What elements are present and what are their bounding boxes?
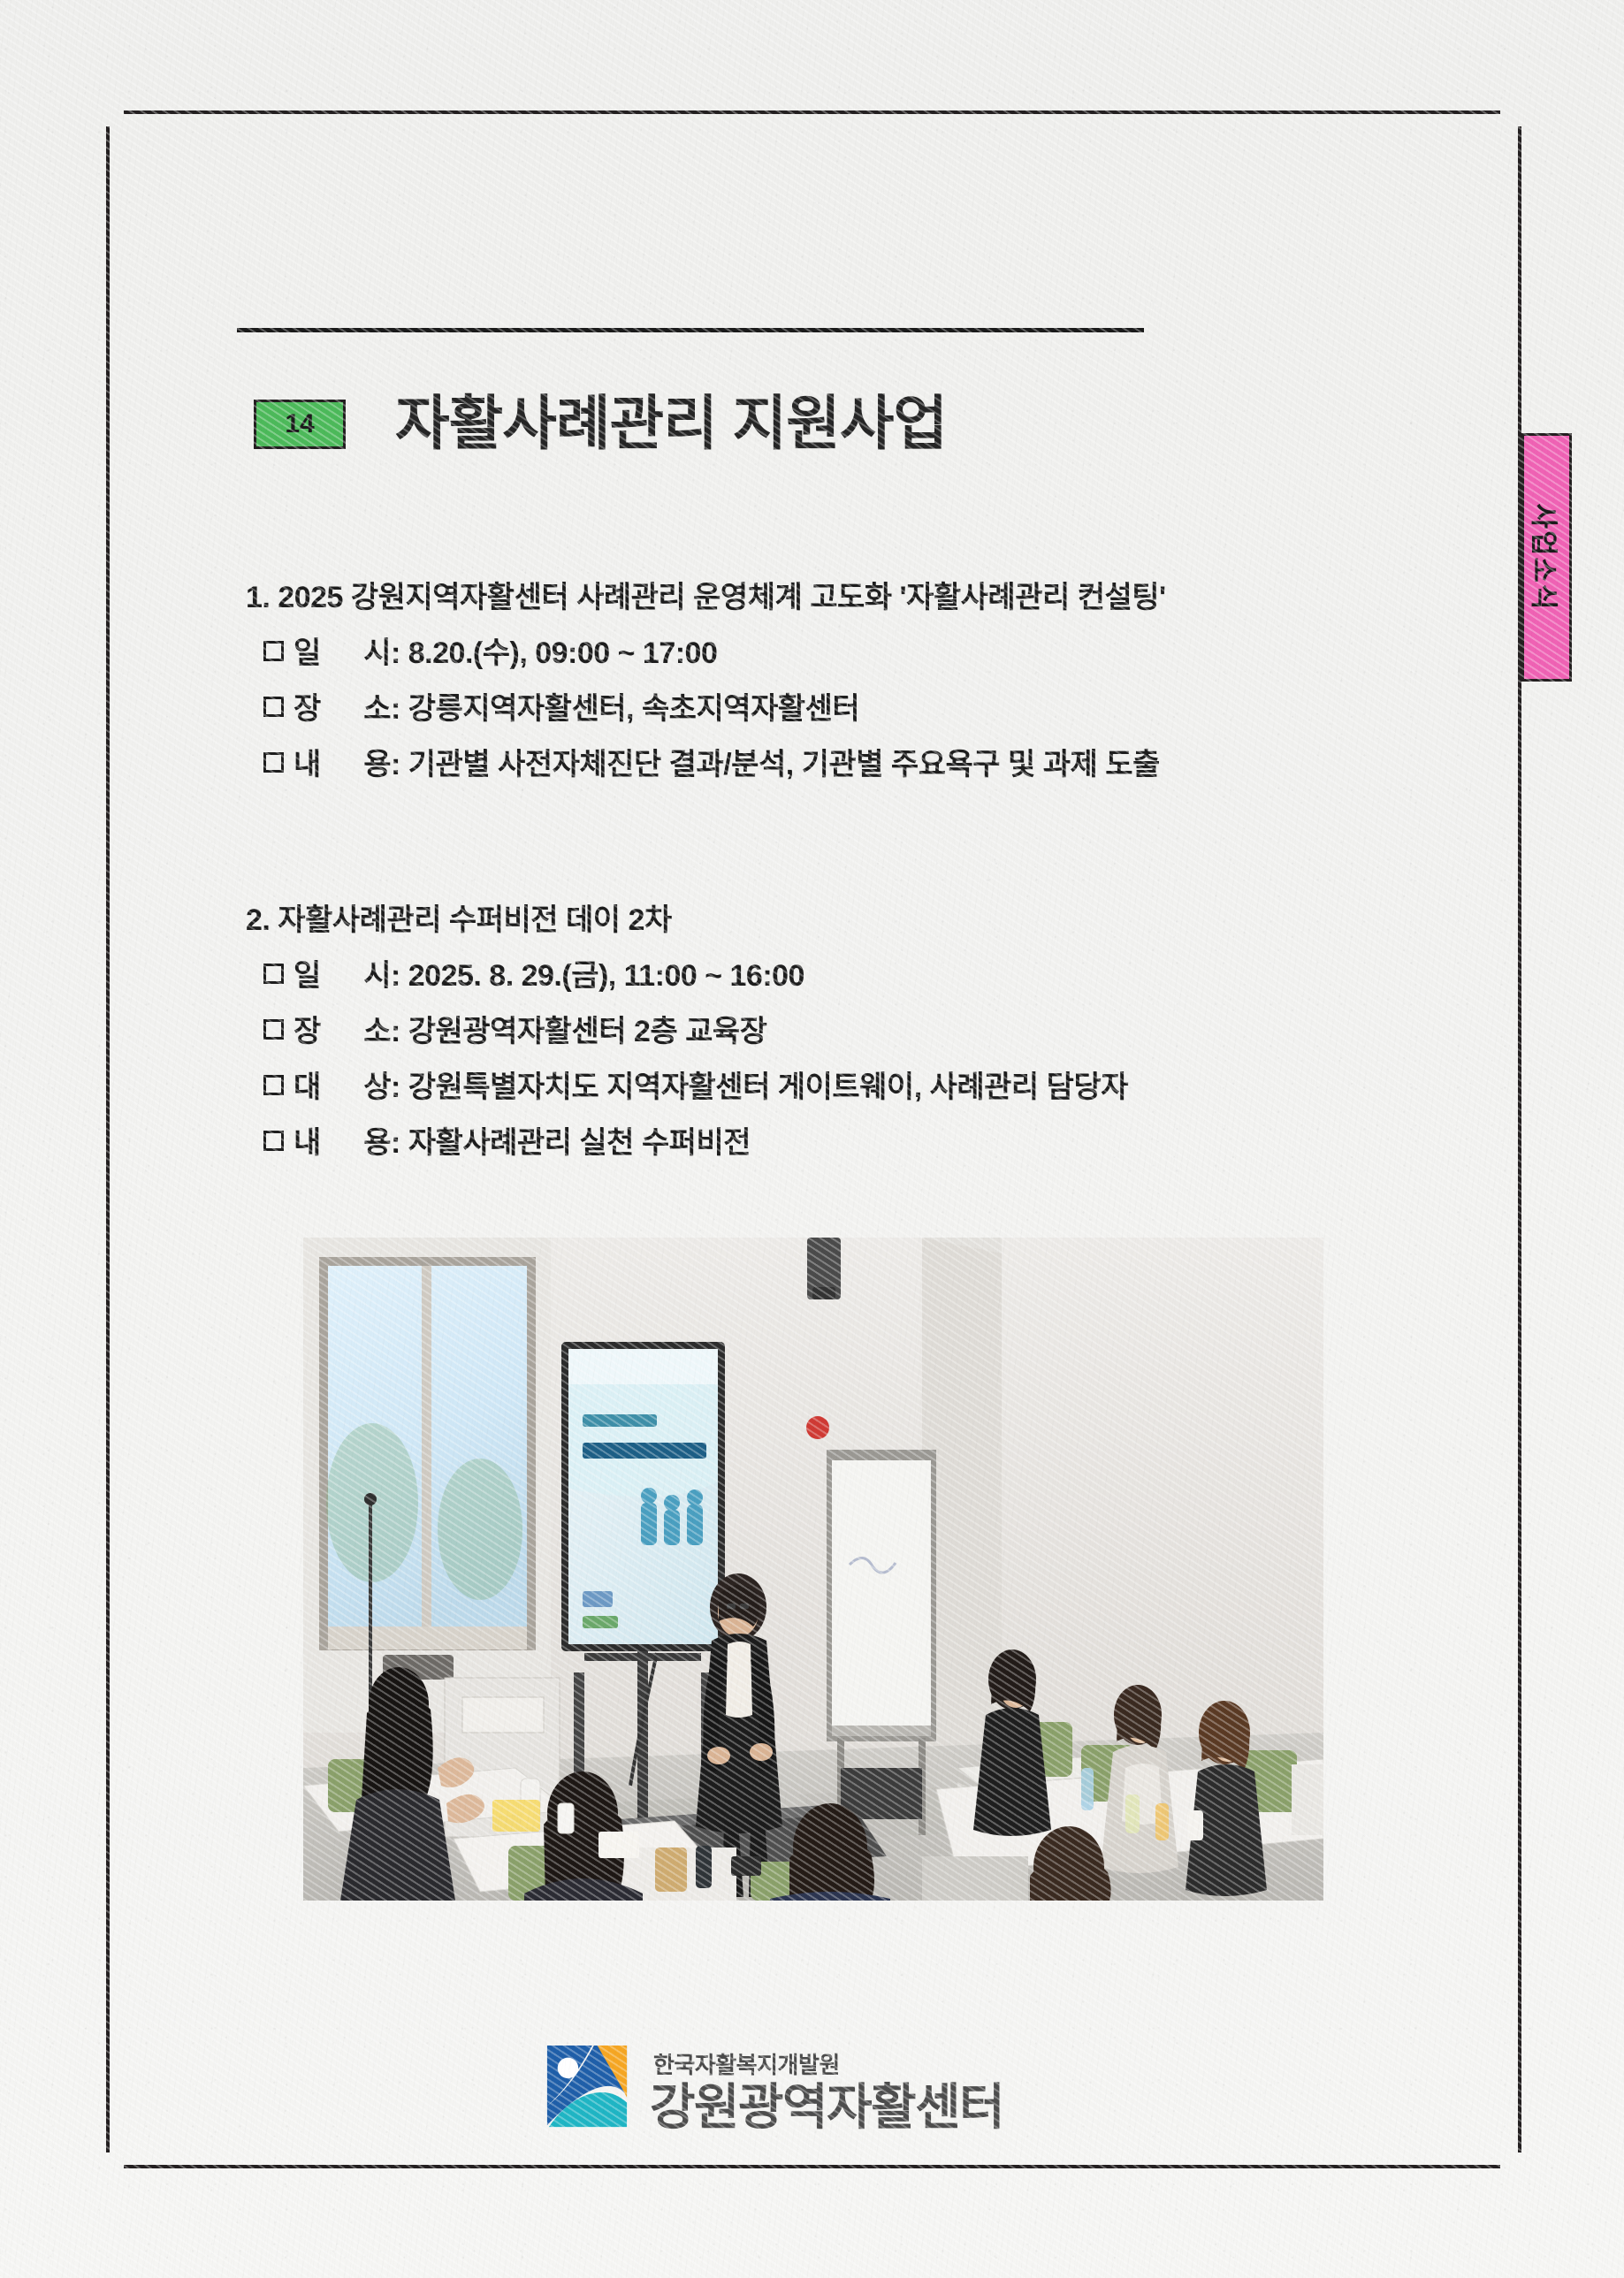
section-2-heading: 2. 자활사례관리 수퍼비전 데이 2차: [246, 895, 1128, 939]
detail-key2: 용: [327, 1118, 391, 1162]
detail-key: 내: [294, 740, 327, 783]
detail-key2: 소: [327, 684, 391, 728]
detail-row: 대 상 : 강원특별자치도 지역자활센터 게이트웨이, 사례관리 담당자: [263, 1063, 1128, 1106]
section-1: 1. 2025 강원지역자활센터 사례관리 운영체계 고도화 '자활사례관리 컨…: [246, 573, 1166, 796]
section-1-heading: 1. 2025 강원지역자활센터 사례관리 운영체계 고도화 '자활사례관리 컨…: [246, 573, 1166, 616]
frame-rule-top: [124, 110, 1500, 114]
section-2: 2. 자활사례관리 수퍼비전 데이 2차 일 시 : 2025. 8. 29.(…: [246, 895, 1128, 1174]
checkbox-icon: [263, 641, 284, 661]
detail-key: 일: [294, 629, 327, 672]
logo-text-block: 한국자활복지개발원 강원광역자활센터: [650, 2053, 1003, 2132]
checkbox-icon: [263, 1019, 284, 1040]
detail-value: : 기관별 사전자체진단 결과/분석, 기관별 주요욕구 및 과제 도출: [391, 740, 1160, 783]
detail-value: : 자활사례관리 실천 수퍼비전: [391, 1118, 751, 1162]
logo-subtitle: 한국자활복지개발원: [653, 2053, 1003, 2076]
logo-title: 강원광역자활센터: [650, 2083, 1003, 2132]
section-2-rows: 일 시 : 2025. 8. 29.(금), 11:00 ~ 16:00 장 소…: [263, 951, 1128, 1162]
detail-value: : 강원특별자치도 지역자활센터 게이트웨이, 사례관리 담당자: [391, 1063, 1128, 1106]
frame-rule-left: [106, 126, 110, 2152]
checkbox-icon: [263, 964, 284, 984]
detail-row: 장 소 : 강원광역자활센터 2층 교육장: [263, 1007, 1128, 1050]
detail-value: : 강릉지역자활센터, 속초지역자활센터: [391, 684, 859, 728]
checkbox-icon: [263, 1075, 284, 1095]
detail-value: : 강원광역자활센터 2층 교육장: [391, 1007, 766, 1050]
detail-key: 장: [294, 1007, 327, 1050]
checkbox-icon: [263, 697, 284, 717]
poster-page: 사업소식 14 자활사례관리 지원사업 1. 2025 강원지역자활센터 사례관…: [0, 0, 1624, 2278]
event-photo: [303, 1238, 1323, 1901]
checkbox-icon: [263, 752, 284, 773]
detail-row: 장 소 : 강릉지역자활센터, 속초지역자활센터: [263, 684, 1166, 728]
detail-row: 일 시 : 2025. 8. 29.(금), 11:00 ~ 16:00: [263, 951, 1128, 994]
detail-row: 내 용 : 기관별 사전자체진단 결과/분석, 기관별 주요욕구 및 과제 도출: [263, 740, 1166, 783]
detail-row: 일 시 : 8.20.(수), 09:00 ~ 17:00: [263, 629, 1166, 672]
detail-key2: 시: [327, 951, 391, 994]
detail-key2: 소: [327, 1007, 391, 1050]
section-number-badge: 14: [254, 400, 346, 449]
frame-rule-right: [1518, 126, 1521, 2152]
detail-key: 장: [294, 684, 327, 728]
detail-value: : 2025. 8. 29.(금), 11:00 ~ 16:00: [391, 951, 804, 994]
checkbox-icon: [263, 1131, 284, 1151]
side-tab-label: 사업소식: [1527, 503, 1567, 611]
detail-key: 일: [294, 951, 327, 994]
detail-row: 내 용 : 자활사례관리 실천 수퍼비전: [263, 1118, 1128, 1162]
detail-value: : 8.20.(수), 09:00 ~ 17:00: [391, 629, 717, 672]
frame-rule-bottom: [124, 2165, 1500, 2168]
detail-key: 대: [294, 1063, 327, 1106]
event-photo-illustration: [303, 1238, 1323, 1901]
section-1-rows: 일 시 : 8.20.(수), 09:00 ~ 17:00 장 소 : 강릉지역…: [263, 629, 1166, 783]
page-title: 자활사례관리 지원사업: [395, 376, 947, 461]
footer-logo: 한국자활복지개발원 강원광역자활센터: [544, 2042, 1003, 2132]
detail-key2: 상: [327, 1063, 391, 1106]
detail-key2: 용: [327, 740, 391, 783]
detail-key: 내: [294, 1118, 327, 1162]
title-divider: [237, 328, 1144, 332]
side-tab-category[interactable]: 사업소식: [1521, 433, 1572, 682]
organization-logo-icon: [544, 2042, 630, 2132]
detail-key2: 시: [327, 629, 391, 672]
